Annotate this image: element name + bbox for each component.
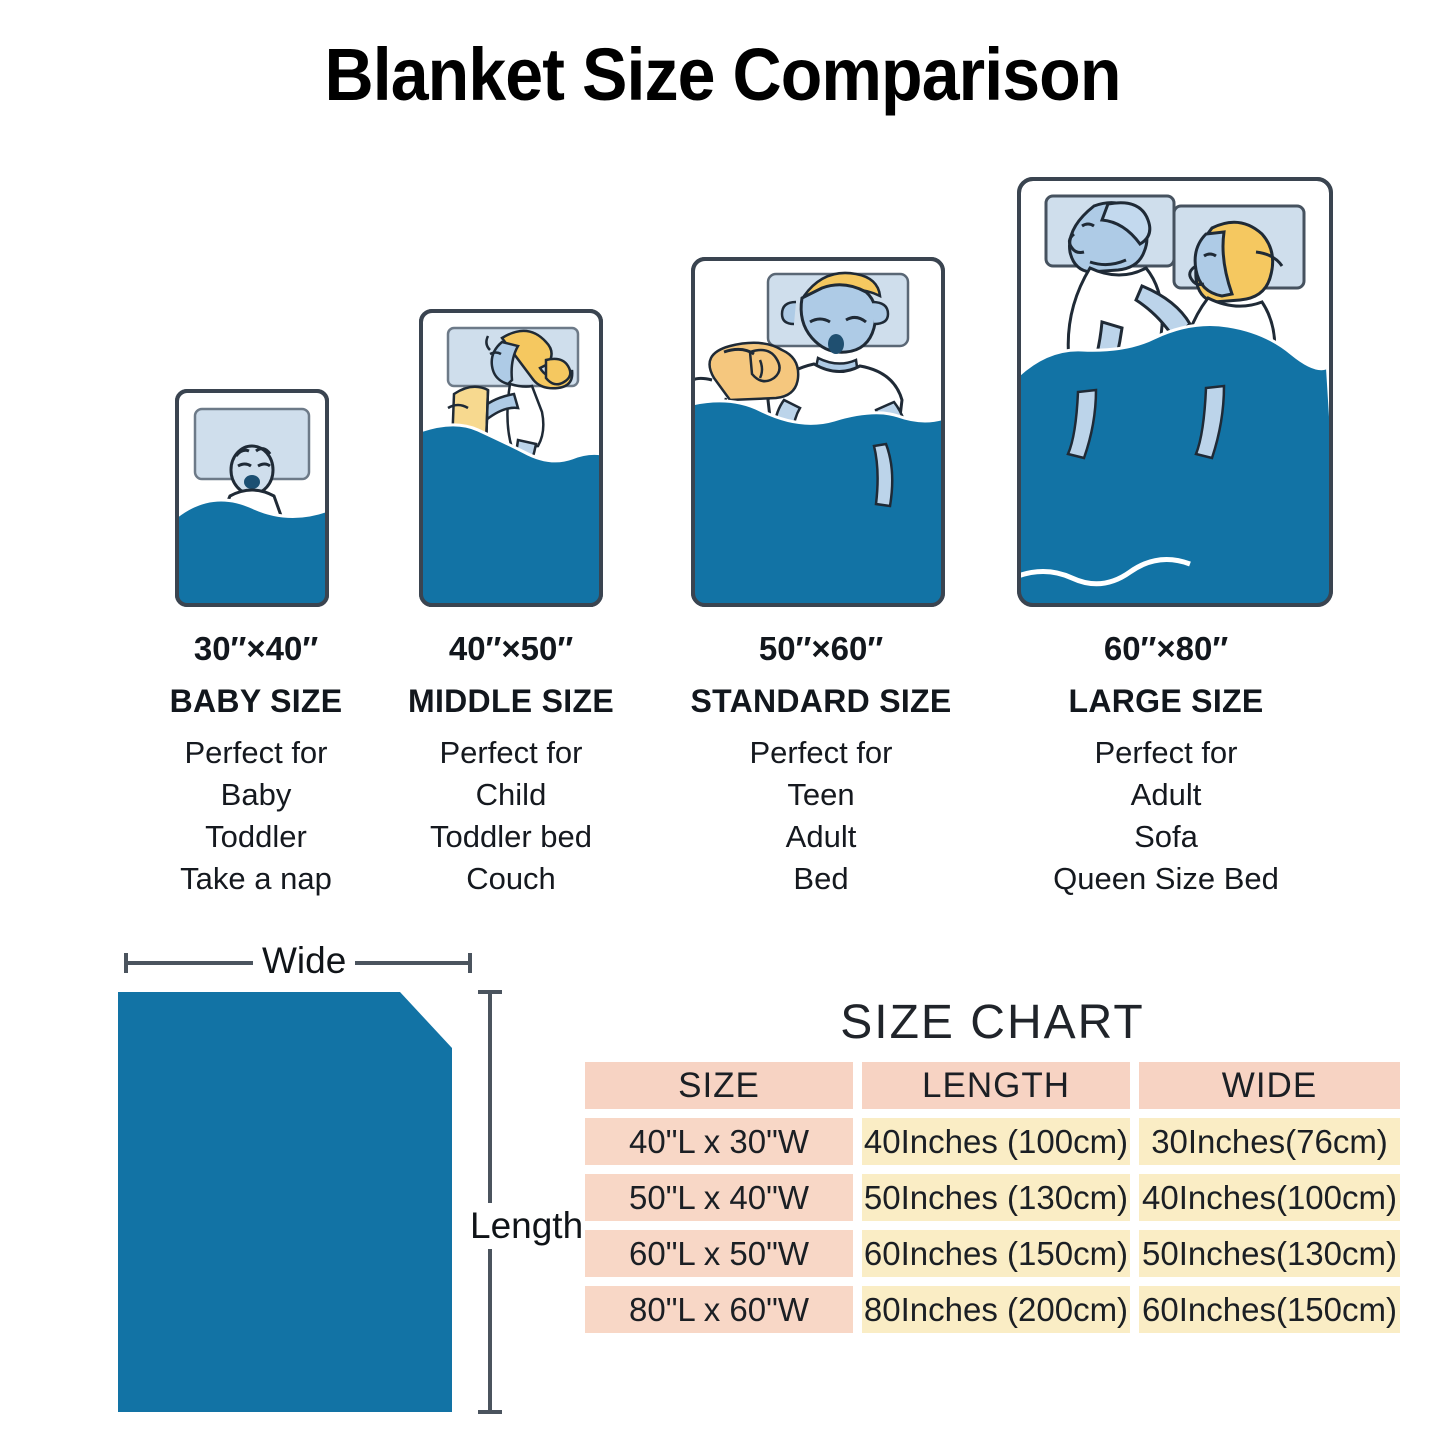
- caption-dimension: 50″×60″: [665, 632, 977, 665]
- caption-name: MIDDLE SIZE: [355, 685, 667, 717]
- column-header-size: SIZE: [585, 1062, 853, 1109]
- illustration-middle-size: [418, 308, 604, 608]
- cell-size: 40"L x 30"W: [585, 1118, 853, 1165]
- length-dimension-line: [478, 992, 502, 1412]
- caption-large-size: 60″×80″ LARGE SIZE Perfect for Adult Sof…: [1010, 632, 1322, 905]
- blanket-dimension-diagram: [100, 930, 570, 1430]
- illustration-baby-size: [174, 388, 330, 608]
- cell-size: 50"L x 40"W: [585, 1174, 853, 1221]
- cell-size: 60"L x 50"W: [585, 1230, 853, 1277]
- caption-use-0: Perfect for: [1010, 737, 1322, 768]
- caption-use-1: Adult: [1010, 779, 1322, 810]
- cell-wide: 30Inches(76cm): [1139, 1118, 1400, 1165]
- caption-standard-size: 50″×60″ STANDARD SIZE Perfect for Teen A…: [665, 632, 977, 905]
- caption-name: LARGE SIZE: [1010, 685, 1322, 717]
- cell-length: 80Inches (200cm): [862, 1286, 1130, 1333]
- cell-length: 40Inches (100cm): [862, 1118, 1130, 1165]
- bed-illustrations-row: [0, 0, 1445, 620]
- column-header-length: LENGTH: [862, 1062, 1130, 1109]
- table-row: 60"L x 50"W 60Inches (150cm) 50Inches(13…: [585, 1230, 1400, 1277]
- table-header-row: SIZE LENGTH WIDE: [585, 1062, 1400, 1109]
- cell-length: 60Inches (150cm): [862, 1230, 1130, 1277]
- caption-use-1: Child: [355, 779, 667, 810]
- caption-name: STANDARD SIZE: [665, 685, 977, 717]
- cell-length: 50Inches (130cm): [862, 1174, 1130, 1221]
- caption-use-2: Adult: [665, 821, 977, 852]
- table-row: 40"L x 30"W 40Inches (100cm) 30Inches(76…: [585, 1118, 1400, 1165]
- caption-use-1: Teen: [665, 779, 977, 810]
- blanket-size-comparison-page: Blanket Size Comparison: [0, 0, 1445, 1445]
- caption-use-2: Sofa: [1010, 821, 1322, 852]
- wide-label: Wide: [253, 940, 355, 982]
- length-label: Length: [466, 1203, 587, 1249]
- cell-wide: 50Inches(130cm): [1139, 1230, 1400, 1277]
- size-chart-table: SIZE LENGTH WIDE 40"L x 30"W 40Inches (1…: [585, 1062, 1400, 1342]
- cell-wide: 60Inches(150cm): [1139, 1286, 1400, 1333]
- size-chart-title: SIZE CHART: [585, 995, 1400, 1050]
- caption-use-3: Couch: [355, 863, 667, 894]
- caption-use-2: Toddler bed: [355, 821, 667, 852]
- cell-size: 80"L x 60"W: [585, 1286, 853, 1333]
- caption-use-0: Perfect for: [665, 737, 977, 768]
- caption-use-0: Perfect for: [355, 737, 667, 768]
- caption-use-3: Queen Size Bed: [1010, 863, 1322, 894]
- caption-dimension: 60″×80″: [1010, 632, 1322, 665]
- table-row: 50"L x 40"W 50Inches (130cm) 40Inches(10…: [585, 1174, 1400, 1221]
- caption-use-3: Bed: [665, 863, 977, 894]
- illustration-standard-size: [690, 256, 946, 608]
- illustration-large-size: [1016, 176, 1334, 608]
- column-header-wide: WIDE: [1139, 1062, 1400, 1109]
- caption-middle-size: 40″×50″ MIDDLE SIZE Perfect for Child To…: [355, 632, 667, 905]
- blanket-shape: [118, 992, 452, 1412]
- table-row: 80"L x 60"W 80Inches (200cm) 60Inches(15…: [585, 1286, 1400, 1333]
- caption-dimension: 40″×50″: [355, 632, 667, 665]
- cell-wide: 40Inches(100cm): [1139, 1174, 1400, 1221]
